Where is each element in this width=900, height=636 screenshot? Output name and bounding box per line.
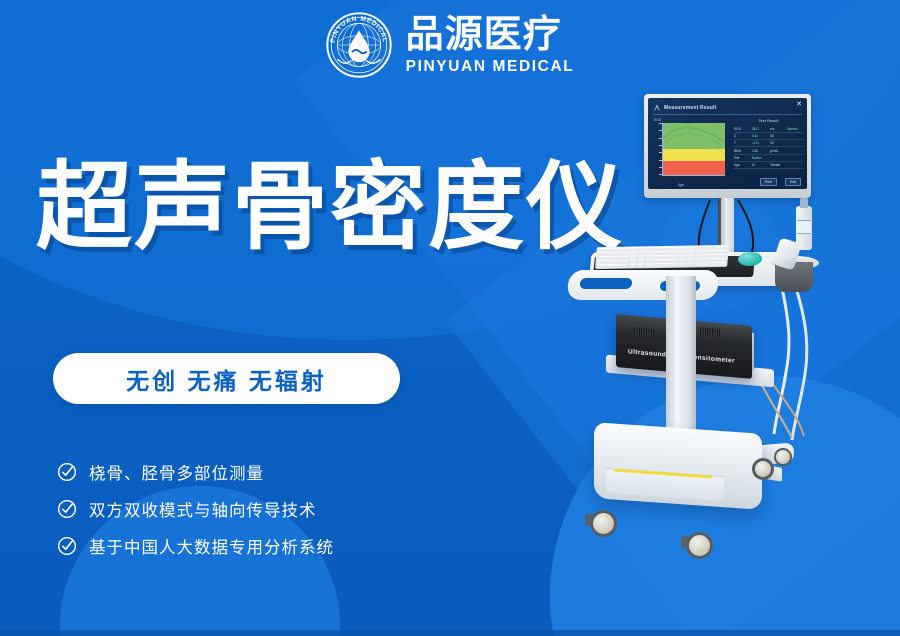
list-item: 基于中国人大数据专用分析系统	[57, 534, 334, 558]
caster-wheel	[774, 448, 792, 466]
brand-wordmark: 品源医疗 PINYUAN MEDICAL	[406, 16, 575, 75]
keyboard[interactable]	[595, 245, 729, 269]
feature-label-2: 双方双收模式与轴向传导技术	[89, 497, 317, 521]
ultrasound-bone-densitometer-cart: Measurement Result ✕ SOS	[560, 80, 900, 636]
handle-cutout	[579, 278, 632, 289]
pinyuan-medical-seal-icon: PINYUAN MEDICAL	[326, 12, 392, 78]
cart-column	[666, 276, 696, 436]
brand-logo: PINYUAN MEDICAL 品源医疗 PINYUAN MEDICAL	[0, 12, 900, 78]
unit-vent	[700, 327, 720, 337]
caster-wheel	[752, 458, 774, 480]
banner-canvas: PINYUAN MEDICAL 品源医疗 PINYUAN MEDICAL 超声骨…	[0, 0, 900, 636]
status-badge: 无创 无痛 无辐射	[53, 353, 400, 404]
gel-bottle-label	[797, 220, 811, 234]
check-circle-icon	[57, 462, 77, 482]
gel-bottle-cap	[800, 198, 808, 208]
caster-wheel	[590, 510, 617, 537]
caster-wheel	[686, 532, 713, 559]
check-circle-icon	[57, 536, 77, 556]
list-item: 桡骨、胫骨多部位测量	[57, 460, 334, 484]
feature-label-3: 基于中国人大数据专用分析系统	[89, 534, 334, 558]
list-item: 双方双收模式与轴向传导技术	[57, 497, 334, 521]
brand-name-cn: 品源医疗	[406, 16, 575, 54]
check-circle-icon	[57, 499, 77, 519]
brand-name-en: PINYUAN MEDICAL	[406, 59, 575, 75]
unit-vent	[634, 327, 654, 337]
page-title: 超声骨密度仪	[36, 158, 624, 259]
status-badge-label: 无创 无痛 无辐射	[126, 362, 327, 396]
feature-list: 桡骨、胫骨多部位测量 双方双收模式与轴向传导技术 基于中国人大数据专用分析系统	[57, 460, 334, 558]
feature-label-1: 桡骨、胫骨多部位测量	[89, 460, 264, 484]
